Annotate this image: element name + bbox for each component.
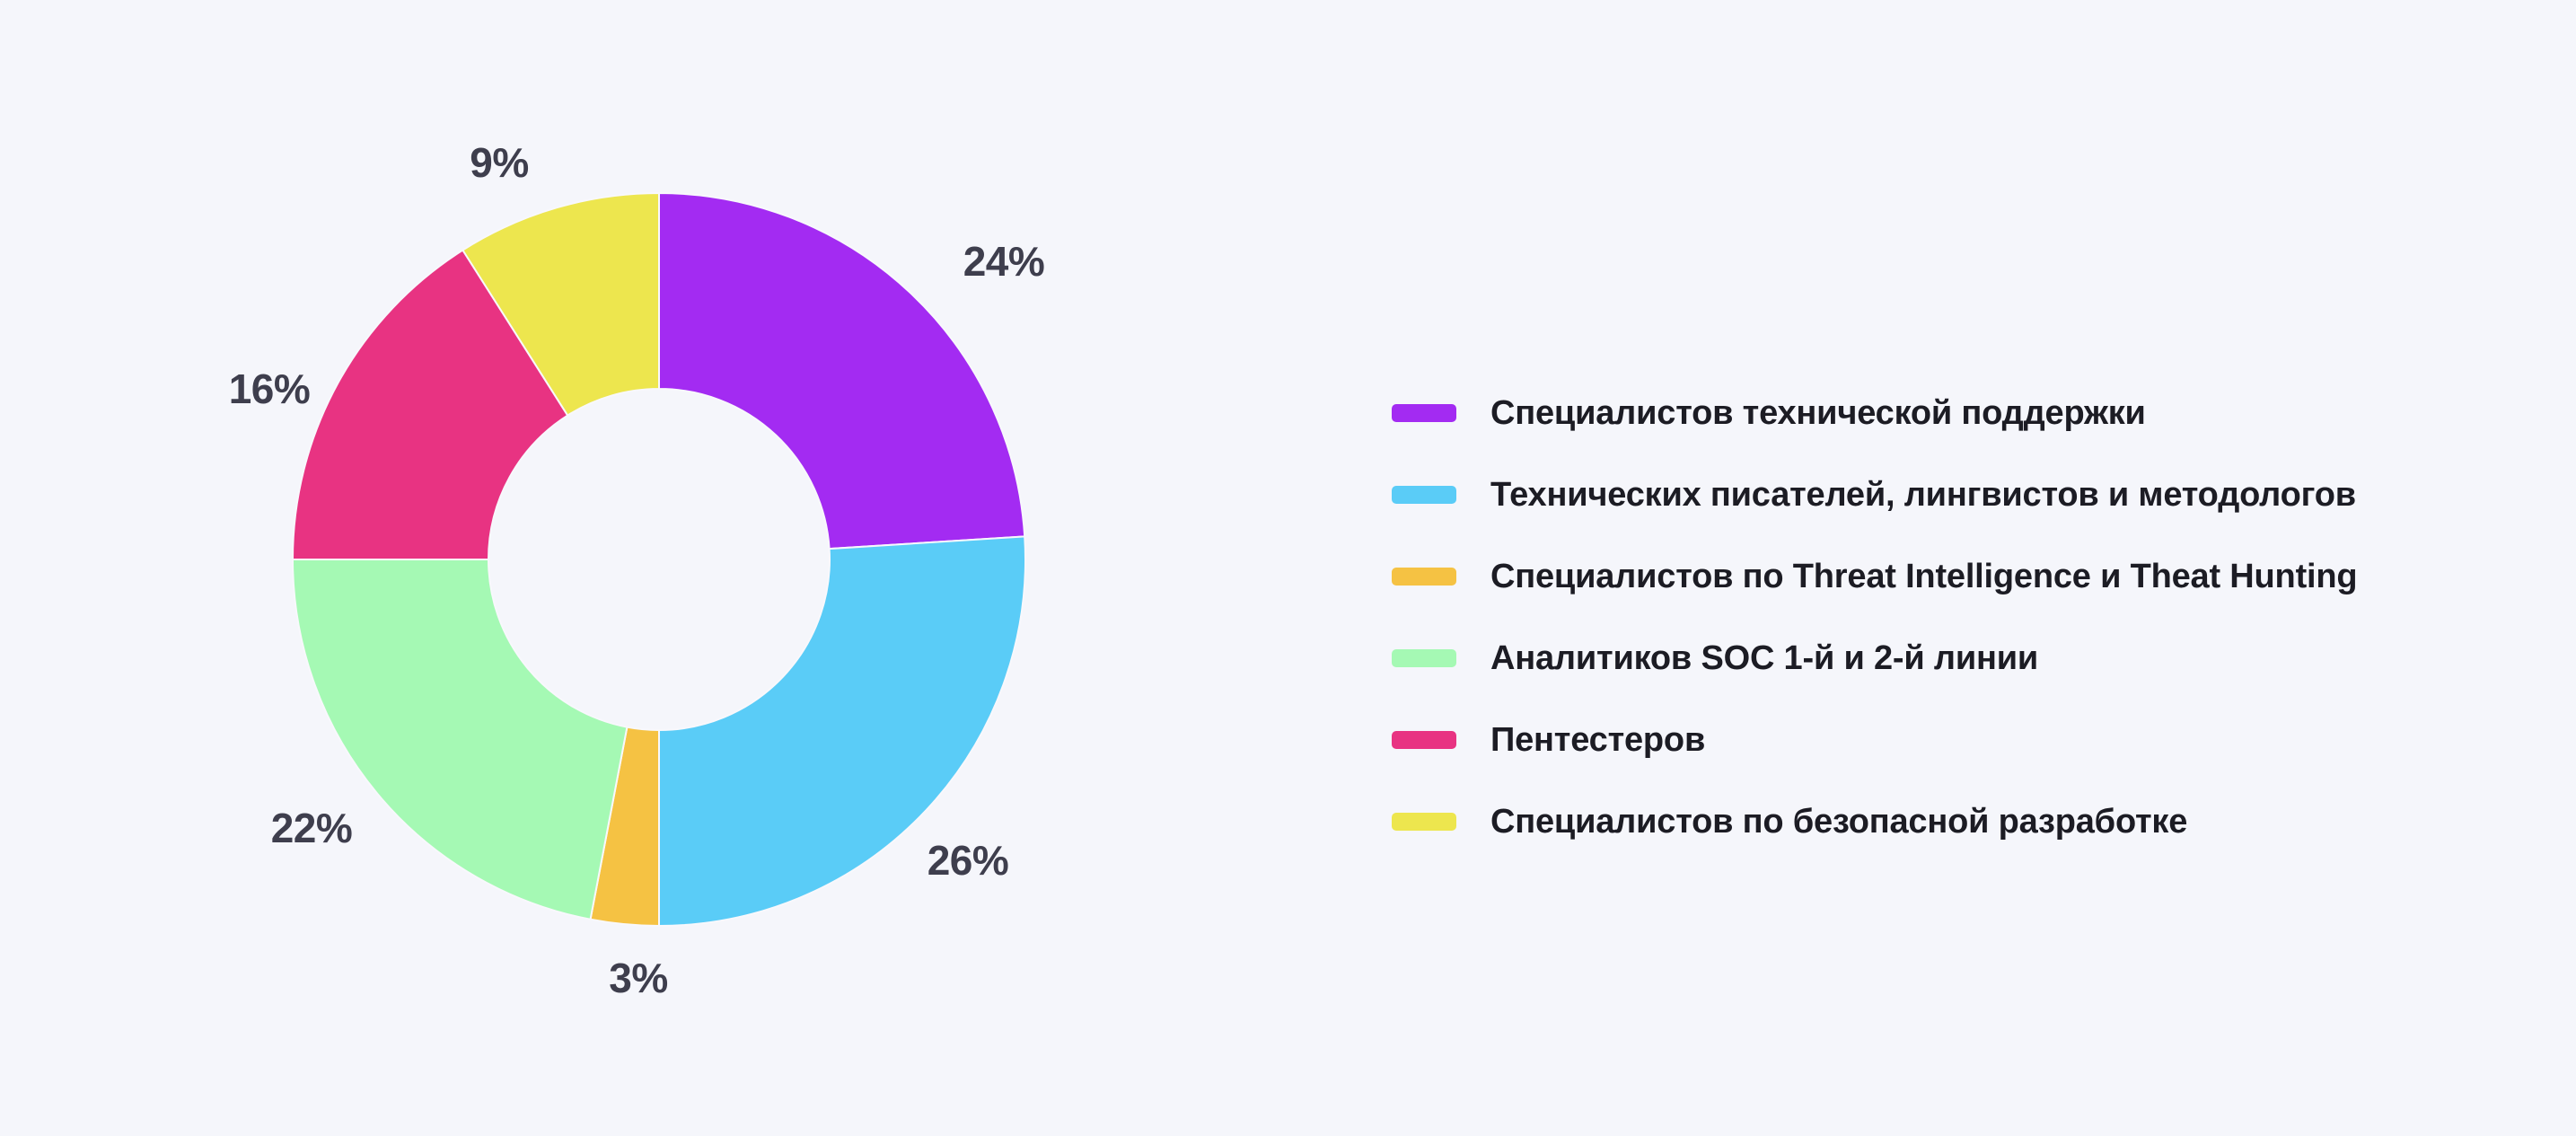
slice-percentage-label: 3% — [609, 957, 667, 999]
legend-item[interactable]: Специалистов технической поддержки — [1392, 391, 2550, 436]
chart-page: 24%26%3%22%16%9% Специалистов техническо… — [0, 0, 2576, 1136]
legend-item-label: Аналитиков SOC 1-й и 2-й линии — [1490, 641, 2038, 675]
legend-swatch-icon — [1392, 568, 1456, 586]
legend-item-label: Технических писателей, лингвистов и мето… — [1490, 478, 2356, 512]
slice-percentage-label: 9% — [470, 142, 528, 183]
legend-item-label: Пентестеров — [1490, 723, 1705, 757]
legend-item[interactable]: Специалистов по безопасной разработке — [1392, 799, 2550, 844]
donut-slices — [293, 193, 1025, 926]
legend-item-label: Специалистов по безопасной разработке — [1490, 805, 2187, 839]
slice-percentage-label: 22% — [271, 807, 353, 849]
slice-percentage-label: 24% — [963, 241, 1045, 282]
legend-item-label: Специалистов технической поддержки — [1490, 396, 2146, 430]
legend-item-label: Специалистов по Threat Intelligence и Th… — [1490, 559, 2357, 594]
legend-swatch-icon — [1392, 731, 1456, 749]
legend-item[interactable]: Аналитиков SOC 1-й и 2-й линии — [1392, 636, 2550, 681]
legend-item[interactable]: Специалистов по Threat Intelligence и Th… — [1392, 554, 2550, 599]
legend-swatch-icon — [1392, 649, 1456, 667]
chart-legend: Специалистов технической поддержкиТехнич… — [1392, 391, 2550, 844]
legend-swatch-icon — [1392, 813, 1456, 831]
donut-chart: 24%26%3%22%16%9% — [0, 0, 1311, 1136]
legend-swatch-icon — [1392, 486, 1456, 504]
legend-item[interactable]: Пентестеров — [1392, 718, 2550, 762]
slice-percentage-label: 26% — [928, 840, 1009, 881]
legend-item[interactable]: Технических писателей, лингвистов и мето… — [1392, 472, 2550, 517]
legend-swatch-icon — [1392, 404, 1456, 422]
donut-slice[interactable] — [293, 559, 627, 920]
slice-percentage-label: 16% — [229, 368, 311, 409]
